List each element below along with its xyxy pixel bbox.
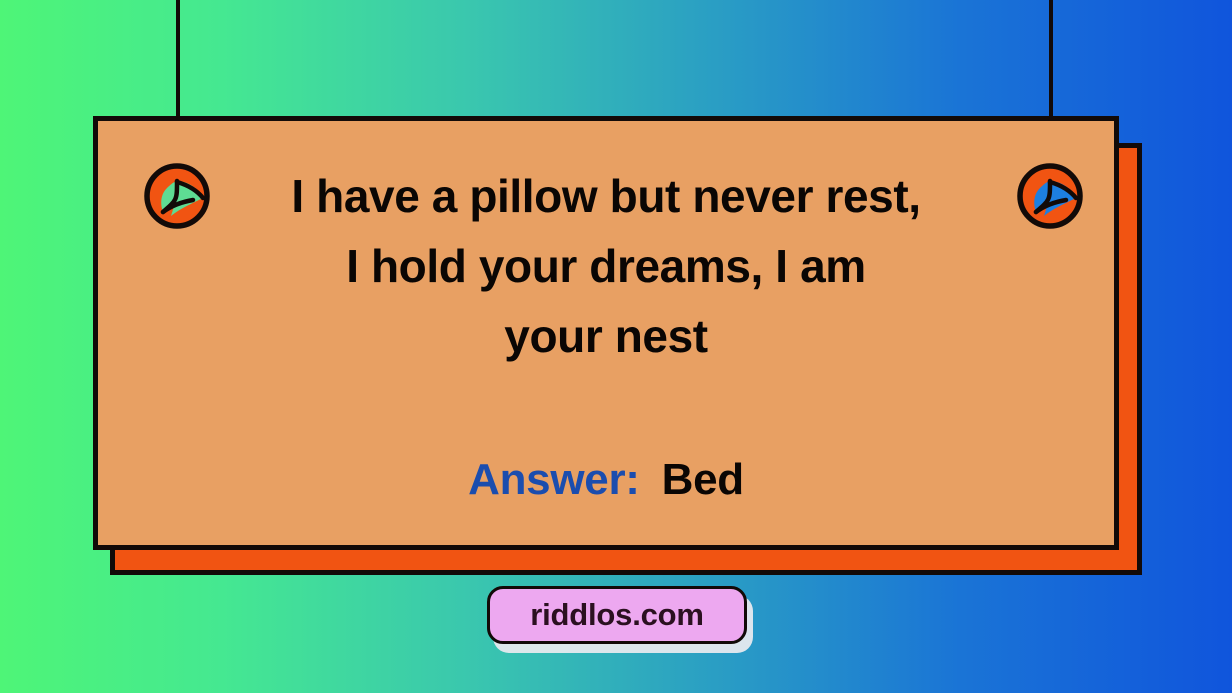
answer-row: Answer:Bed: [110, 455, 1102, 505]
riddle-line-2: I hold your dreams, I am: [110, 232, 1102, 302]
site-badge[interactable]: riddlos.com: [487, 586, 747, 644]
riddle-line-1: I have a pillow but never rest,: [110, 162, 1102, 232]
riddle-card-canvas: I have a pillow but never rest, I hold y…: [0, 0, 1232, 693]
riddle-text: I have a pillow but never rest, I hold y…: [110, 162, 1102, 372]
site-badge-label: riddlos.com: [530, 597, 704, 633]
riddle-line-3: your nest: [110, 302, 1102, 372]
answer-label: Answer:: [468, 455, 640, 504]
answer-value: Bed: [662, 455, 744, 504]
